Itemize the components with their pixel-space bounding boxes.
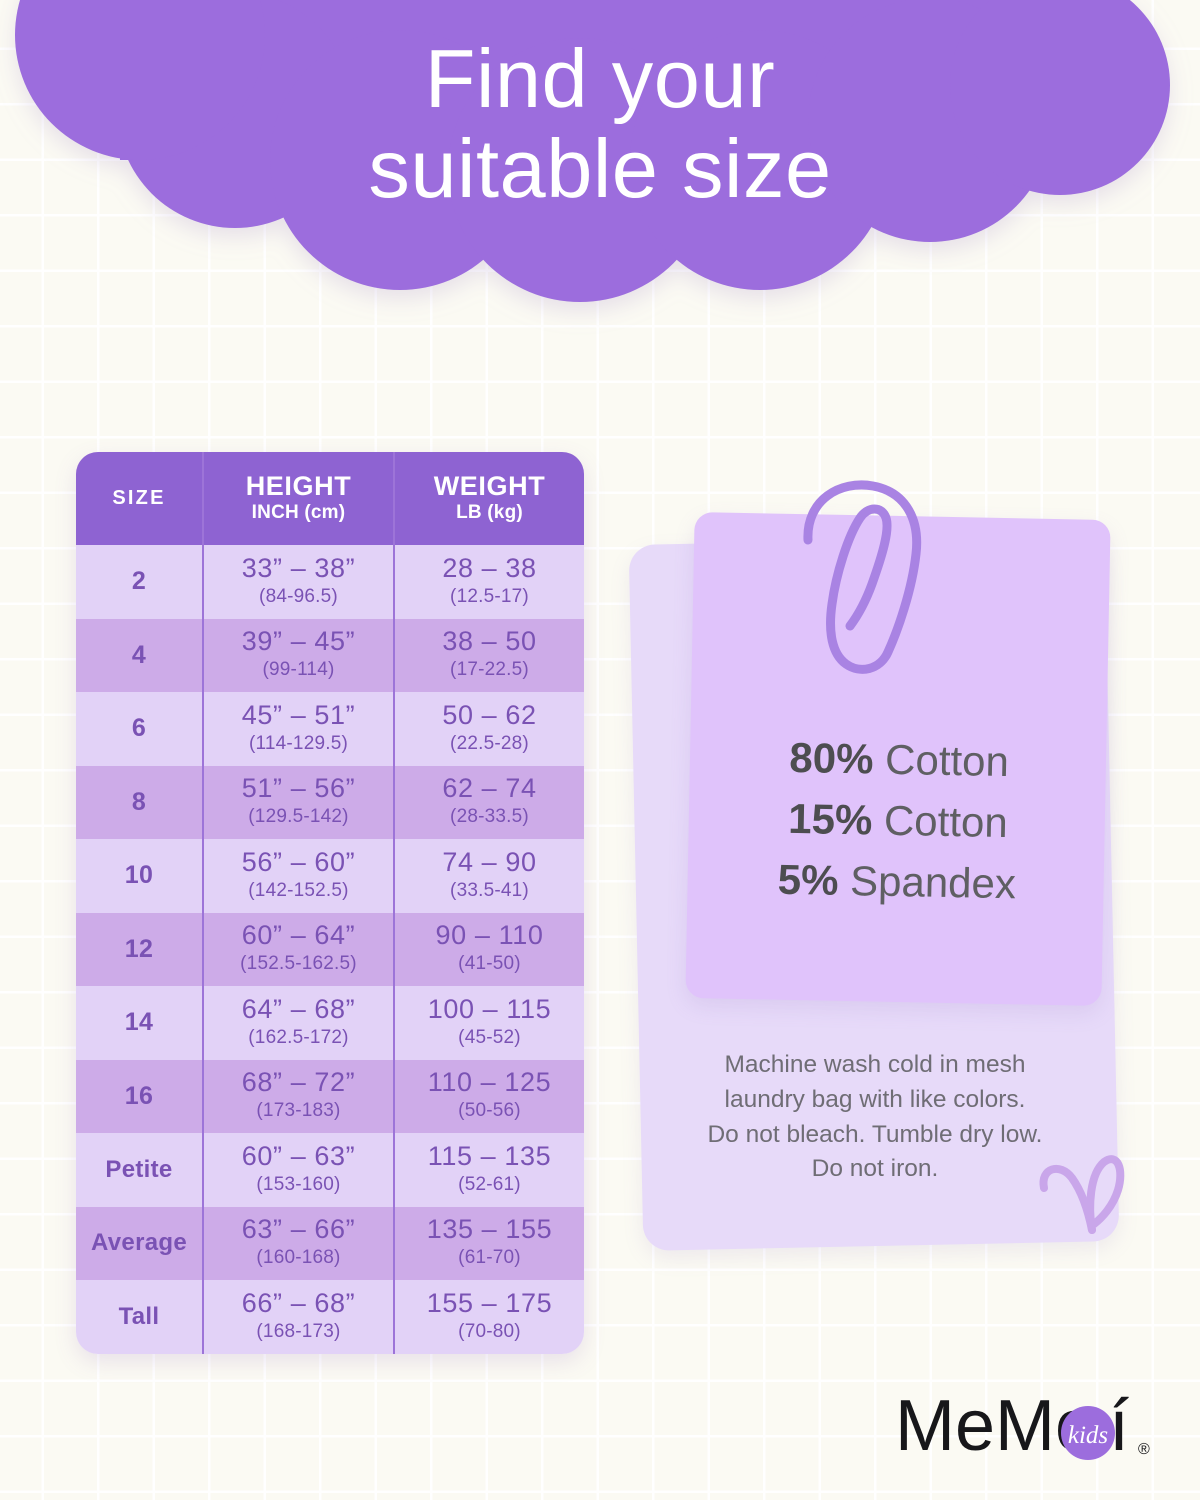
cell-height-inch: 68” – 72” [242, 1067, 355, 1098]
size-chart-table: SIZE HEIGHT INCH (cm) WEIGHT LB (kg) 2 3… [76, 452, 584, 1354]
cell-height: 45” – 51” (114-129.5) [202, 692, 393, 766]
table-row: Petite 60” – 63” (153-160) 115 – 135 (52… [76, 1133, 584, 1207]
fabric-line: 15% Cotton [689, 787, 1106, 856]
cell-height-cm: (129.5-142) [248, 804, 348, 831]
cell-weight-lb: 50 – 62 [442, 700, 536, 731]
cell-height-cm: (99-114) [262, 657, 334, 684]
cell-height: 51” – 56” (129.5-142) [202, 766, 393, 840]
cell-weight: 74 – 90 (33.5-41) [393, 839, 584, 913]
cell-weight: 155 – 175 (70-80) [393, 1280, 584, 1354]
cell-height-cm: (173-183) [256, 1098, 340, 1125]
cell-height: 68” – 72” (173-183) [202, 1060, 393, 1134]
cell-height-inch: 60” – 64” [242, 920, 355, 951]
cell-size: 6 [76, 692, 202, 766]
table-row: 2 33” – 38” (84-96.5) 28 – 38 (12.5-17) [76, 545, 584, 619]
cell-size: 16 [76, 1060, 202, 1134]
cell-weight-kg: (41-50) [458, 951, 521, 978]
cell-height-inch: 33” – 38” [242, 553, 355, 584]
fabric-composition-list: 80% Cotton 15% Cotton 5% Spandex [688, 726, 1107, 917]
cell-height: 56” – 60” (142-152.5) [202, 839, 393, 913]
cell-weight-kg: (70-80) [458, 1319, 521, 1346]
table-header-height-label: HEIGHT [246, 472, 352, 501]
cell-height-inch: 64” – 68” [242, 994, 355, 1025]
cell-height-inch: 63” – 66” [242, 1214, 355, 1245]
table-row: Tall 66” – 68” (168-173) 155 – 175 (70-8… [76, 1280, 584, 1354]
cell-weight: 28 – 38 (12.5-17) [393, 545, 584, 619]
cell-weight-lb: 90 – 110 [436, 920, 544, 951]
cell-weight-kg: (50-56) [458, 1098, 521, 1125]
table-row: 10 56” – 60” (142-152.5) 74 – 90 (33.5-4… [76, 839, 584, 913]
table-row: 6 45” – 51” (114-129.5) 50 – 62 (22.5-28… [76, 692, 584, 766]
cell-weight-kg: (12.5-17) [450, 584, 529, 611]
cell-height-cm: (168-173) [256, 1319, 340, 1346]
table-row: 12 60” – 64” (152.5-162.5) 90 – 110 (41-… [76, 913, 584, 987]
cell-size: 4 [76, 619, 202, 693]
fabric-percent: 80% [789, 734, 874, 783]
cell-size: Petite [76, 1133, 202, 1207]
table-row: 14 64” – 68” (162.5-172) 100 – 115 (45-5… [76, 986, 584, 1060]
cell-height-inch: 51” – 56” [242, 773, 355, 804]
cell-weight-kg: (45-52) [458, 1025, 521, 1052]
page-title: Find your suitable size [0, 34, 1200, 213]
cell-height: 66” – 68” (168-173) [202, 1280, 393, 1354]
care-instructions: Machine wash cold in mesh laundry bag wi… [660, 1048, 1090, 1187]
cell-height-inch: 66” – 68” [242, 1288, 355, 1319]
cell-size: 10 [76, 839, 202, 913]
fabric-material: Cotton [884, 797, 1009, 846]
cell-weight: 115 – 135 (52-61) [393, 1133, 584, 1207]
cell-weight-lb: 38 – 50 [442, 626, 536, 657]
cell-height: 60” – 64” (152.5-162.5) [202, 913, 393, 987]
memoi-kids-logo: MeMo kids í ® [895, 1388, 1155, 1480]
cell-weight-lb: 135 – 155 [427, 1214, 553, 1245]
cell-weight: 62 – 74 (28-33.5) [393, 766, 584, 840]
paperclip-icon [788, 478, 968, 683]
cell-height: 64” – 68” (162.5-172) [202, 986, 393, 1060]
cell-height-inch: 39” – 45” [242, 626, 355, 657]
cell-height-cm: (152.5-162.5) [240, 951, 357, 978]
table-row: 4 39” – 45” (99-114) 38 – 50 (17-22.5) [76, 619, 584, 693]
cell-height-inch: 56” – 60” [242, 847, 355, 878]
fabric-material: Cotton [885, 736, 1010, 785]
cell-height-cm: (84-96.5) [259, 584, 338, 611]
cell-height-cm: (162.5-172) [248, 1025, 348, 1052]
cell-height-cm: (160-168) [256, 1245, 340, 1272]
table-header-height: HEIGHT INCH (cm) [202, 452, 393, 545]
cell-weight-lb: 110 – 125 [428, 1067, 552, 1098]
cell-weight-kg: (28-33.5) [450, 804, 529, 831]
cell-size: 14 [76, 986, 202, 1060]
fabric-line: 5% Spandex [688, 848, 1105, 917]
cell-size: Tall [76, 1280, 202, 1354]
table-row: 8 51” – 56” (129.5-142) 62 – 74 (28-33.5… [76, 766, 584, 840]
table-header-weight-unit: LB (kg) [456, 501, 523, 525]
table-header-height-unit: INCH (cm) [252, 501, 346, 525]
cell-weight-lb: 74 – 90 [442, 847, 536, 878]
cell-weight-kg: (33.5-41) [450, 878, 529, 905]
cell-size: 12 [76, 913, 202, 987]
cell-weight: 135 – 155 (61-70) [393, 1207, 584, 1281]
cell-weight: 38 – 50 (17-22.5) [393, 619, 584, 693]
cell-height-inch: 45” – 51” [242, 700, 355, 731]
fabric-percent: 15% [788, 795, 873, 844]
fabric-material: Spandex [850, 857, 1017, 907]
logo-trademark-symbol: ® [1138, 1441, 1150, 1458]
table-row: Average 63” – 66” (160-168) 135 – 155 (6… [76, 1207, 584, 1281]
cell-height: 63” – 66” (160-168) [202, 1207, 393, 1281]
cell-weight-lb: 155 – 175 [427, 1288, 553, 1319]
cell-size: 8 [76, 766, 202, 840]
table-header-size: SIZE [76, 452, 202, 545]
table-row: 16 68” – 72” (173-183) 110 – 125 (50-56) [76, 1060, 584, 1134]
logo-wordmark-tail: í [1109, 1388, 1129, 1466]
cell-height: 60” – 63” (153-160) [202, 1133, 393, 1207]
cell-height-cm: (142-152.5) [248, 878, 348, 905]
cell-weight-kg: (52-61) [458, 1172, 521, 1199]
cell-height: 39” – 45” (99-114) [202, 619, 393, 693]
cell-weight-lb: 115 – 135 [428, 1141, 552, 1172]
cell-height-cm: (114-129.5) [249, 731, 348, 758]
fabric-percent: 5% [777, 855, 839, 903]
cell-height: 33” – 38” (84-96.5) [202, 545, 393, 619]
cell-size: 2 [76, 545, 202, 619]
cell-weight: 100 – 115 (45-52) [393, 986, 584, 1060]
cell-weight-lb: 28 – 38 [442, 553, 536, 584]
logo-badge-text: kids [1068, 1422, 1108, 1449]
table-header-size-label: SIZE [112, 488, 165, 510]
cell-height-inch: 60” – 63” [242, 1141, 355, 1172]
table-header-weight-label: WEIGHT [434, 472, 546, 501]
cell-weight: 110 – 125 (50-56) [393, 1060, 584, 1134]
heart-doodle-icon [1030, 1148, 1140, 1248]
cell-weight: 50 – 62 (22.5-28) [393, 692, 584, 766]
cell-weight-kg: (22.5-28) [450, 731, 529, 758]
cell-weight-kg: (61-70) [458, 1245, 521, 1272]
cell-weight-lb: 62 – 74 [442, 773, 536, 804]
cell-weight-lb: 100 – 115 [428, 994, 552, 1025]
table-header-weight: WEIGHT LB (kg) [393, 452, 584, 545]
fabric-line: 80% Cotton [691, 726, 1108, 795]
cell-height-cm: (153-160) [256, 1172, 340, 1199]
table-header-row: SIZE HEIGHT INCH (cm) WEIGHT LB (kg) [76, 452, 584, 545]
cell-weight-kg: (17-22.5) [450, 657, 529, 684]
cell-weight: 90 – 110 (41-50) [393, 913, 584, 987]
cell-size: Average [76, 1207, 202, 1281]
